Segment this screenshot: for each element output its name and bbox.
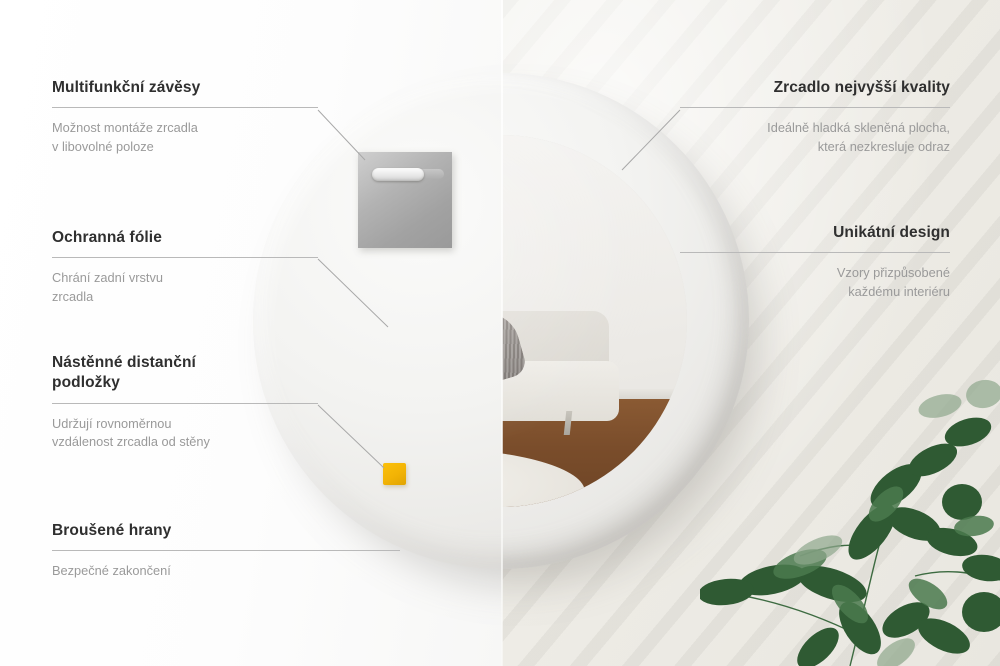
callout-protective-film: Ochranná fólie Chrání zadní vrstvu zrcad…: [52, 228, 318, 306]
callout-top-quality-mirror: Zrcadlo nejvyšší kvality Ideálně hladká …: [680, 78, 950, 156]
callout-description: Udržují rovnoměrnou vzdálenost zrcadla o…: [52, 415, 318, 452]
callout-title: Ochranná fólie: [52, 228, 318, 248]
callout-title: Nástěnné distanční podložky: [52, 353, 318, 394]
hanger-slot: [372, 168, 424, 181]
callout-rule: [52, 257, 318, 258]
callout-multifunctional-hangers: Multifunkční závěsy Možnost montáže zrca…: [52, 78, 318, 156]
callout-wall-spacers: Nástěnné distanční podložky Udržují rovn…: [52, 353, 318, 452]
callout-rule: [52, 403, 318, 404]
callout-title: Zrcadlo nejvyšší kvality: [680, 78, 950, 98]
callout-unique-design: Unikátní design Vzory přizpůsobené každé…: [680, 223, 950, 301]
callout-description: Bezpečné zakončení: [52, 562, 400, 580]
callout-description: Ideálně hladká skleněná plocha, která ne…: [680, 119, 950, 156]
callout-title: Multifunkční závěsy: [52, 78, 318, 98]
panel-divider: [501, 0, 503, 666]
callout-description: Možnost montáže zrcadla v libovolné polo…: [52, 119, 318, 156]
hanger-plate: [358, 152, 452, 248]
callout-title: Broušené hrany: [52, 521, 400, 541]
callout-ground-edges: Broušené hrany Bezpečné zakončení: [52, 521, 400, 581]
callout-description: Vzory přizpůsobené každému interiéru: [680, 264, 950, 301]
callout-rule: [680, 252, 950, 253]
callout-title: Unikátní design: [680, 223, 950, 243]
callout-rule: [680, 107, 950, 108]
callout-rule: [52, 107, 318, 108]
callout-rule: [52, 550, 400, 551]
spacer-pad: [383, 463, 406, 485]
infographic-stage: Multifunkční závěsy Možnost montáže zrca…: [0, 0, 1000, 666]
callout-description: Chrání zadní vrstvu zrcadla: [52, 269, 318, 306]
